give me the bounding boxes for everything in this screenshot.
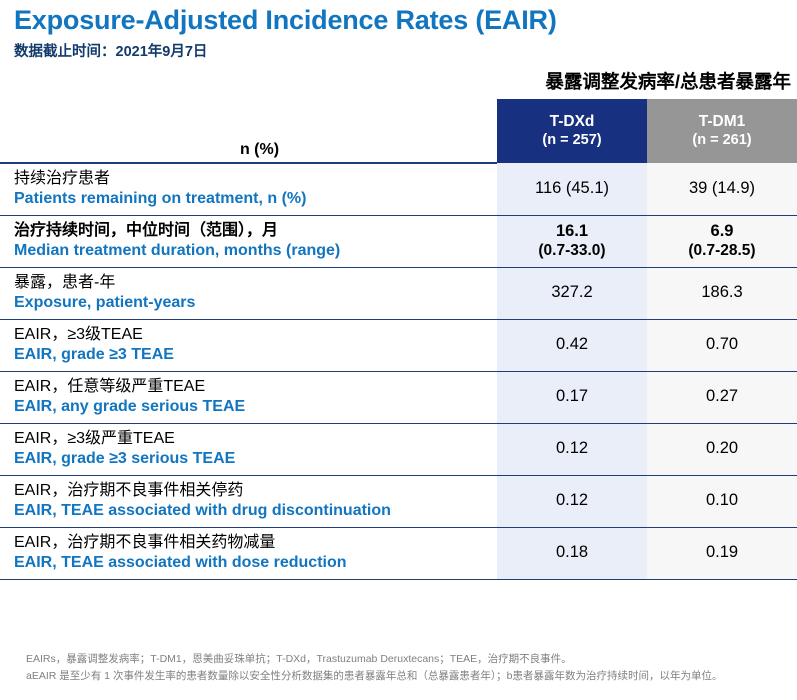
value-tdm1-range: (0.7-28.5) [649, 242, 795, 261]
row-label-en: Median treatment duration, months (range… [14, 241, 491, 261]
table-head: n (%) T-DXd (n = 257) T-DM1 (n = 261) [0, 99, 797, 163]
value-tdm1: 0.70 [706, 335, 738, 353]
table-row: EAIR，治疗期不良事件相关停药EAIR, TEAE associated wi… [0, 475, 797, 527]
table-body: 持续治疗患者Patients remaining on treatment, n… [0, 163, 797, 579]
value-tdxd-range: (0.7-33.0) [499, 242, 645, 261]
value-cell: 39 (14.9) [647, 163, 797, 215]
value-cell: 0.17 [497, 371, 647, 423]
value-tdxd: 0.12 [556, 439, 588, 457]
row-label-cell: EAIR，≥3级严重TEAEEAIR, grade ≥3 serious TEA… [0, 423, 497, 475]
row-label-zh: 持续治疗患者 [14, 169, 491, 189]
table-row: 持续治疗患者Patients remaining on treatment, n… [0, 163, 797, 215]
row-label-zh: 治疗持续时间，中位时间（范围），月 [14, 221, 491, 241]
column-header-label: n (%) [0, 99, 497, 163]
row-label-cell: EAIR，≥3级TEAEEAIR, grade ≥3 TEAE [0, 319, 497, 371]
value-tdxd: 16.1 [556, 222, 588, 240]
row-label-zh: EAIR，≥3级严重TEAE [14, 429, 491, 449]
value-tdxd: 0.12 [556, 491, 588, 509]
value-tdm1: 0.20 [706, 439, 738, 457]
row-label-zh: EAIR，治疗期不良事件相关停药 [14, 481, 491, 501]
value-cell: 0.18 [497, 527, 647, 579]
row-label-en: EAIR, any grade serious TEAE [14, 397, 491, 417]
row-label-cell: EAIR，治疗期不良事件相关药物减量EAIR, TEAE associated … [0, 527, 497, 579]
value-cell: 0.10 [647, 475, 797, 527]
value-cell: 0.20 [647, 423, 797, 475]
table-row: EAIR，≥3级严重TEAEEAIR, grade ≥3 serious TEA… [0, 423, 797, 475]
value-tdxd: 0.42 [556, 335, 588, 353]
value-tdxd: 0.18 [556, 543, 588, 561]
row-label-cell: 治疗持续时间，中位时间（范围），月Median treatment durati… [0, 215, 497, 267]
row-label-cell: EAIR，治疗期不良事件相关停药EAIR, TEAE associated wi… [0, 475, 497, 527]
column-header-tdm1-n: (n = 261) [647, 132, 797, 149]
value-cell: 0.12 [497, 423, 647, 475]
table-row: EAIR，治疗期不良事件相关药物减量EAIR, TEAE associated … [0, 527, 797, 579]
title-block: Exposure-Adjusted Incidence Rates (EAIR)… [0, 0, 797, 61]
table-header-row: n (%) T-DXd (n = 257) T-DM1 (n = 261) [0, 99, 797, 163]
row-label-cell: EAIR，任意等级严重TEAEEAIR, any grade serious T… [0, 371, 497, 423]
row-label-en: EAIR, TEAE associated with drug disconti… [14, 501, 491, 521]
value-tdm1: 39 (14.9) [689, 179, 755, 197]
row-label-cell: 持续治疗患者Patients remaining on treatment, n… [0, 163, 497, 215]
row-label-zh: EAIR，治疗期不良事件相关药物减量 [14, 533, 491, 553]
footnotes: EAIRs，暴露调整发病率；T-DM1，恩美曲妥珠单抗；T-DXd，Trastu… [26, 651, 788, 685]
table-row: 暴露，患者-年Exposure, patient-years327.2186.3 [0, 267, 797, 319]
value-cell: 0.70 [647, 319, 797, 371]
value-cell: 0.19 [647, 527, 797, 579]
value-tdxd: 327.2 [551, 283, 592, 301]
value-cell: 0.12 [497, 475, 647, 527]
page-title: Exposure-Adjusted Incidence Rates (EAIR) [14, 6, 797, 35]
value-cell: 0.42 [497, 319, 647, 371]
column-header-tdm1-name: T-DM1 [699, 113, 746, 130]
row-label-zh: EAIR，任意等级严重TEAE [14, 377, 491, 397]
row-label-cell: 暴露，患者-年Exposure, patient-years [0, 267, 497, 319]
row-label-en: Exposure, patient-years [14, 293, 491, 313]
value-tdm1: 0.10 [706, 491, 738, 509]
row-label-en: EAIR, grade ≥3 serious TEAE [14, 449, 491, 469]
value-tdxd: 116 (45.1) [535, 179, 609, 197]
eair-table-container: n (%) T-DXd (n = 257) T-DM1 (n = 261) 持续… [0, 99, 797, 580]
value-tdxd: 0.17 [556, 387, 588, 405]
row-label-en: EAIR, grade ≥3 TEAE [14, 345, 491, 365]
value-cell: 16.1(0.7-33.0) [497, 215, 647, 267]
value-cell: 327.2 [497, 267, 647, 319]
value-tdm1: 6.9 [711, 222, 734, 240]
footnote-definitions: aEAIR 是至少有 1 次事件发生率的患者数量除以安全性分析数据集的患者暴露年… [26, 668, 788, 685]
data-cutoff-subtitle: 数据截止时间：2021年9月7日 [14, 40, 797, 61]
row-label-zh: EAIR，≥3级TEAE [14, 325, 491, 345]
value-tdm1: 0.19 [706, 543, 738, 561]
value-cell: 186.3 [647, 267, 797, 319]
column-header-tdxd-n: (n = 257) [497, 132, 647, 149]
table-row: EAIR，≥3级TEAEEAIR, grade ≥3 TEAE0.420.70 [0, 319, 797, 371]
n-percent-label: n (%) [240, 141, 279, 158]
value-tdm1: 186.3 [701, 283, 742, 301]
table-row: 治疗持续时间，中位时间（范围），月Median treatment durati… [0, 215, 797, 267]
row-label-zh: 暴露，患者-年 [14, 273, 491, 293]
value-cell: 0.27 [647, 371, 797, 423]
table-caption: 暴露调整发病率/总患者暴露年 [545, 68, 791, 94]
column-header-tdxd: T-DXd (n = 257) [497, 99, 647, 163]
column-header-tdxd-name: T-DXd [550, 113, 595, 130]
table-row: EAIR，任意等级严重TEAEEAIR, any grade serious T… [0, 371, 797, 423]
value-cell: 116 (45.1) [497, 163, 647, 215]
value-tdm1: 0.27 [706, 387, 738, 405]
footnote-abbreviations: EAIRs，暴露调整发病率；T-DM1，恩美曲妥珠单抗；T-DXd，Trastu… [26, 651, 788, 668]
eair-table: n (%) T-DXd (n = 257) T-DM1 (n = 261) 持续… [0, 99, 797, 580]
row-label-en: Patients remaining on treatment, n (%) [14, 189, 491, 209]
row-label-en: EAIR, TEAE associated with dose reductio… [14, 553, 491, 573]
value-cell: 6.9(0.7-28.5) [647, 215, 797, 267]
column-header-tdm1: T-DM1 (n = 261) [647, 99, 797, 163]
